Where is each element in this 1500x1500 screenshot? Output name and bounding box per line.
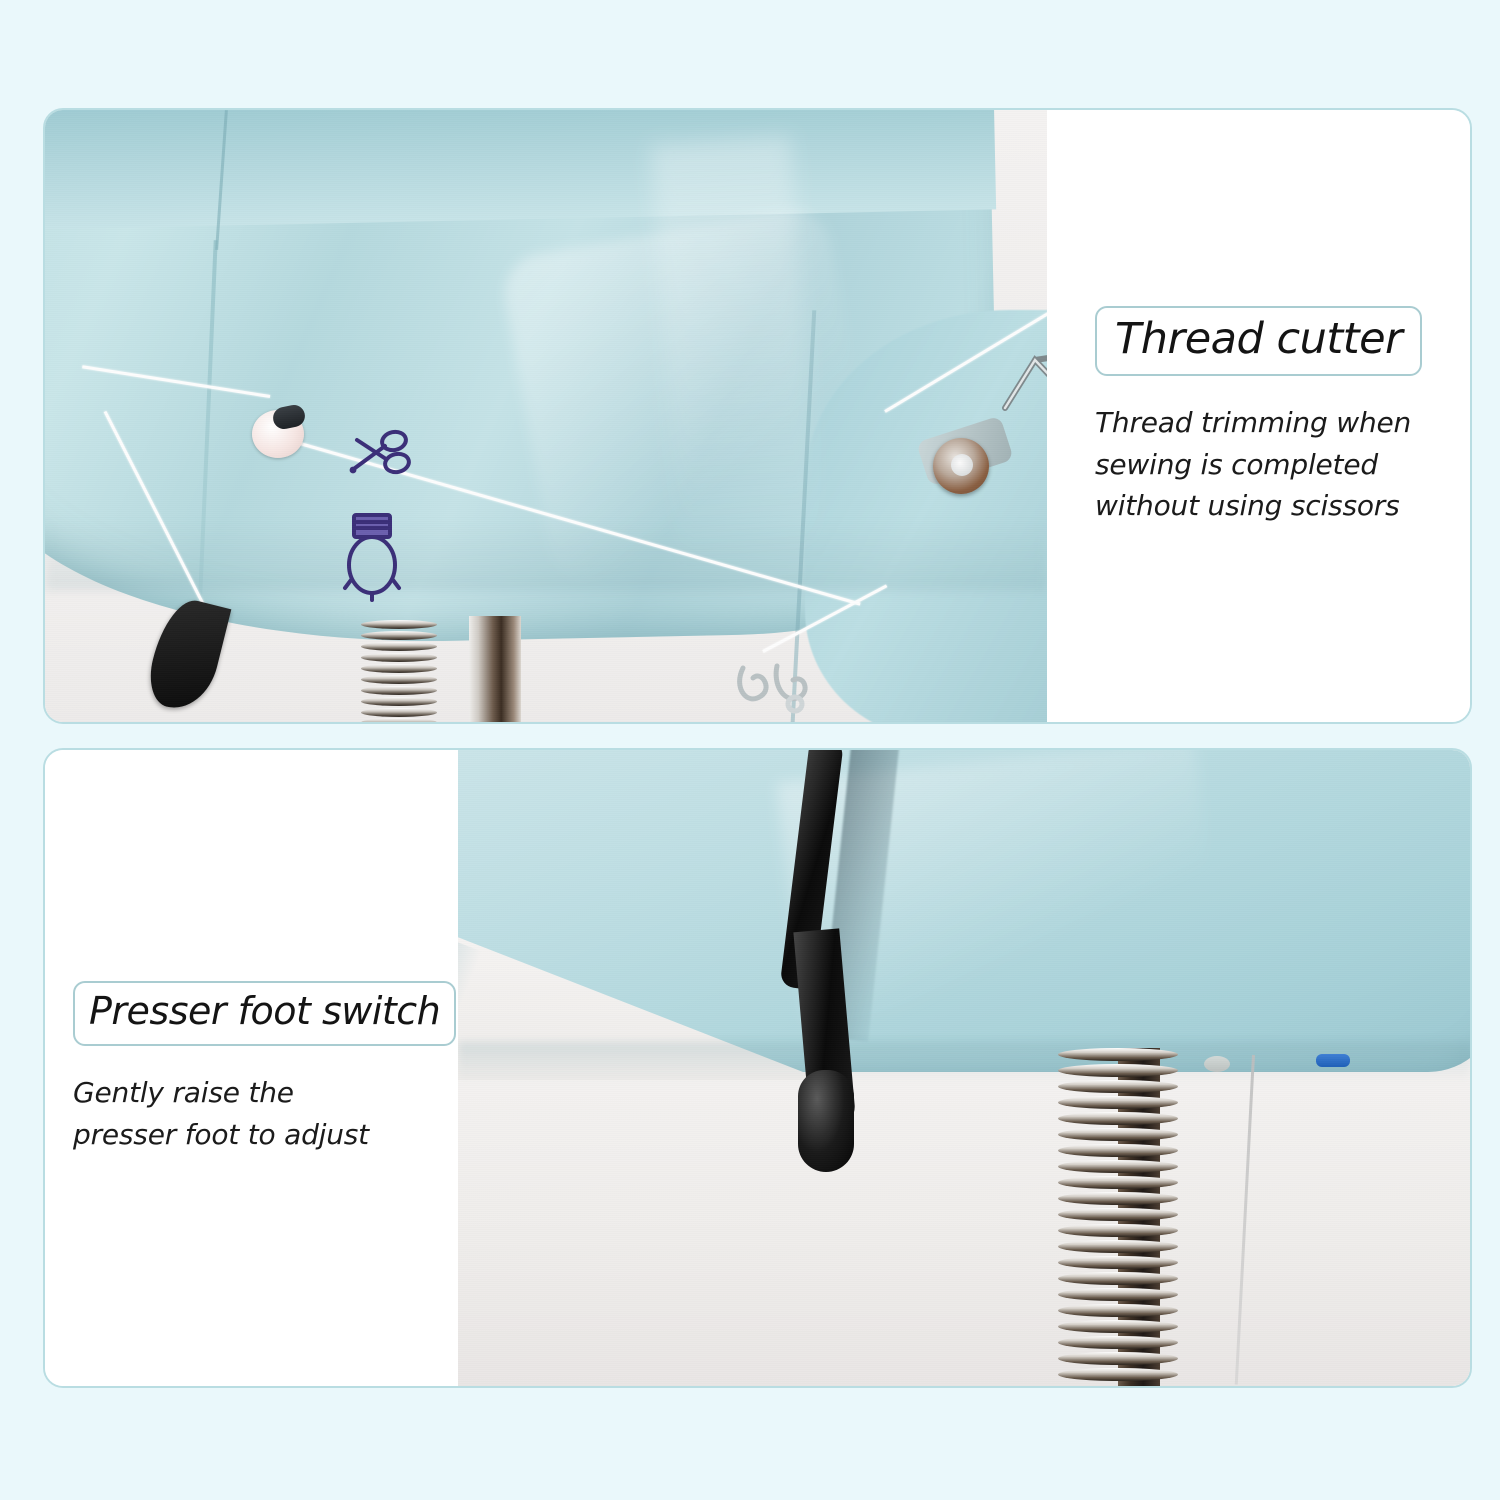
feature-panel-presser-foot-switch: Presser foot switch Gently raise the pre… xyxy=(43,748,1472,1388)
needle-bar-rod xyxy=(469,616,521,722)
body-screw xyxy=(1204,1056,1230,1072)
bobbin-icon xyxy=(335,510,407,602)
panel-2-description: Gently raise the presser foot to adjust xyxy=(73,1072,403,1155)
lever-tip xyxy=(798,1070,854,1172)
gloss-highlight-vertical xyxy=(651,136,820,565)
presser-bar-spring xyxy=(1058,1048,1178,1386)
panel-1-label: Thread cutter xyxy=(1115,316,1402,362)
machine-white-body xyxy=(458,1050,1470,1386)
panel-2-label-box: Presser foot switch xyxy=(73,981,456,1046)
feature-panel-thread-cutter: Thread cutter Thread trimming when sewin… xyxy=(43,108,1472,724)
presser-foot-lever xyxy=(810,750,870,1170)
infographic-stage: Thread cutter Thread trimming when sewin… xyxy=(0,0,1500,1500)
thread-guide-hook-icon xyxy=(731,662,821,722)
panel-2-text-column: Presser foot switch Gently raise the pre… xyxy=(45,750,458,1386)
presser-foot-lever-photo xyxy=(458,750,1470,1386)
sewing-machine-head-photo xyxy=(45,110,1047,722)
head-under-shadow xyxy=(45,520,1047,590)
panel-1-description: Thread trimming when sewing is completed… xyxy=(1095,402,1470,526)
thread-cutter-hook-icon xyxy=(991,348,1047,428)
needle-bar-spring xyxy=(361,618,437,722)
blue-indicator-button xyxy=(1316,1054,1350,1067)
panel-1-text-column: Thread cutter Thread trimming when sewin… xyxy=(1047,110,1470,722)
panel-2-label: Presser foot switch xyxy=(89,991,440,1032)
screw-washer-hole xyxy=(951,454,973,476)
scissors-icon xyxy=(345,428,415,486)
panel-1-label-box: Thread cutter xyxy=(1095,306,1422,376)
